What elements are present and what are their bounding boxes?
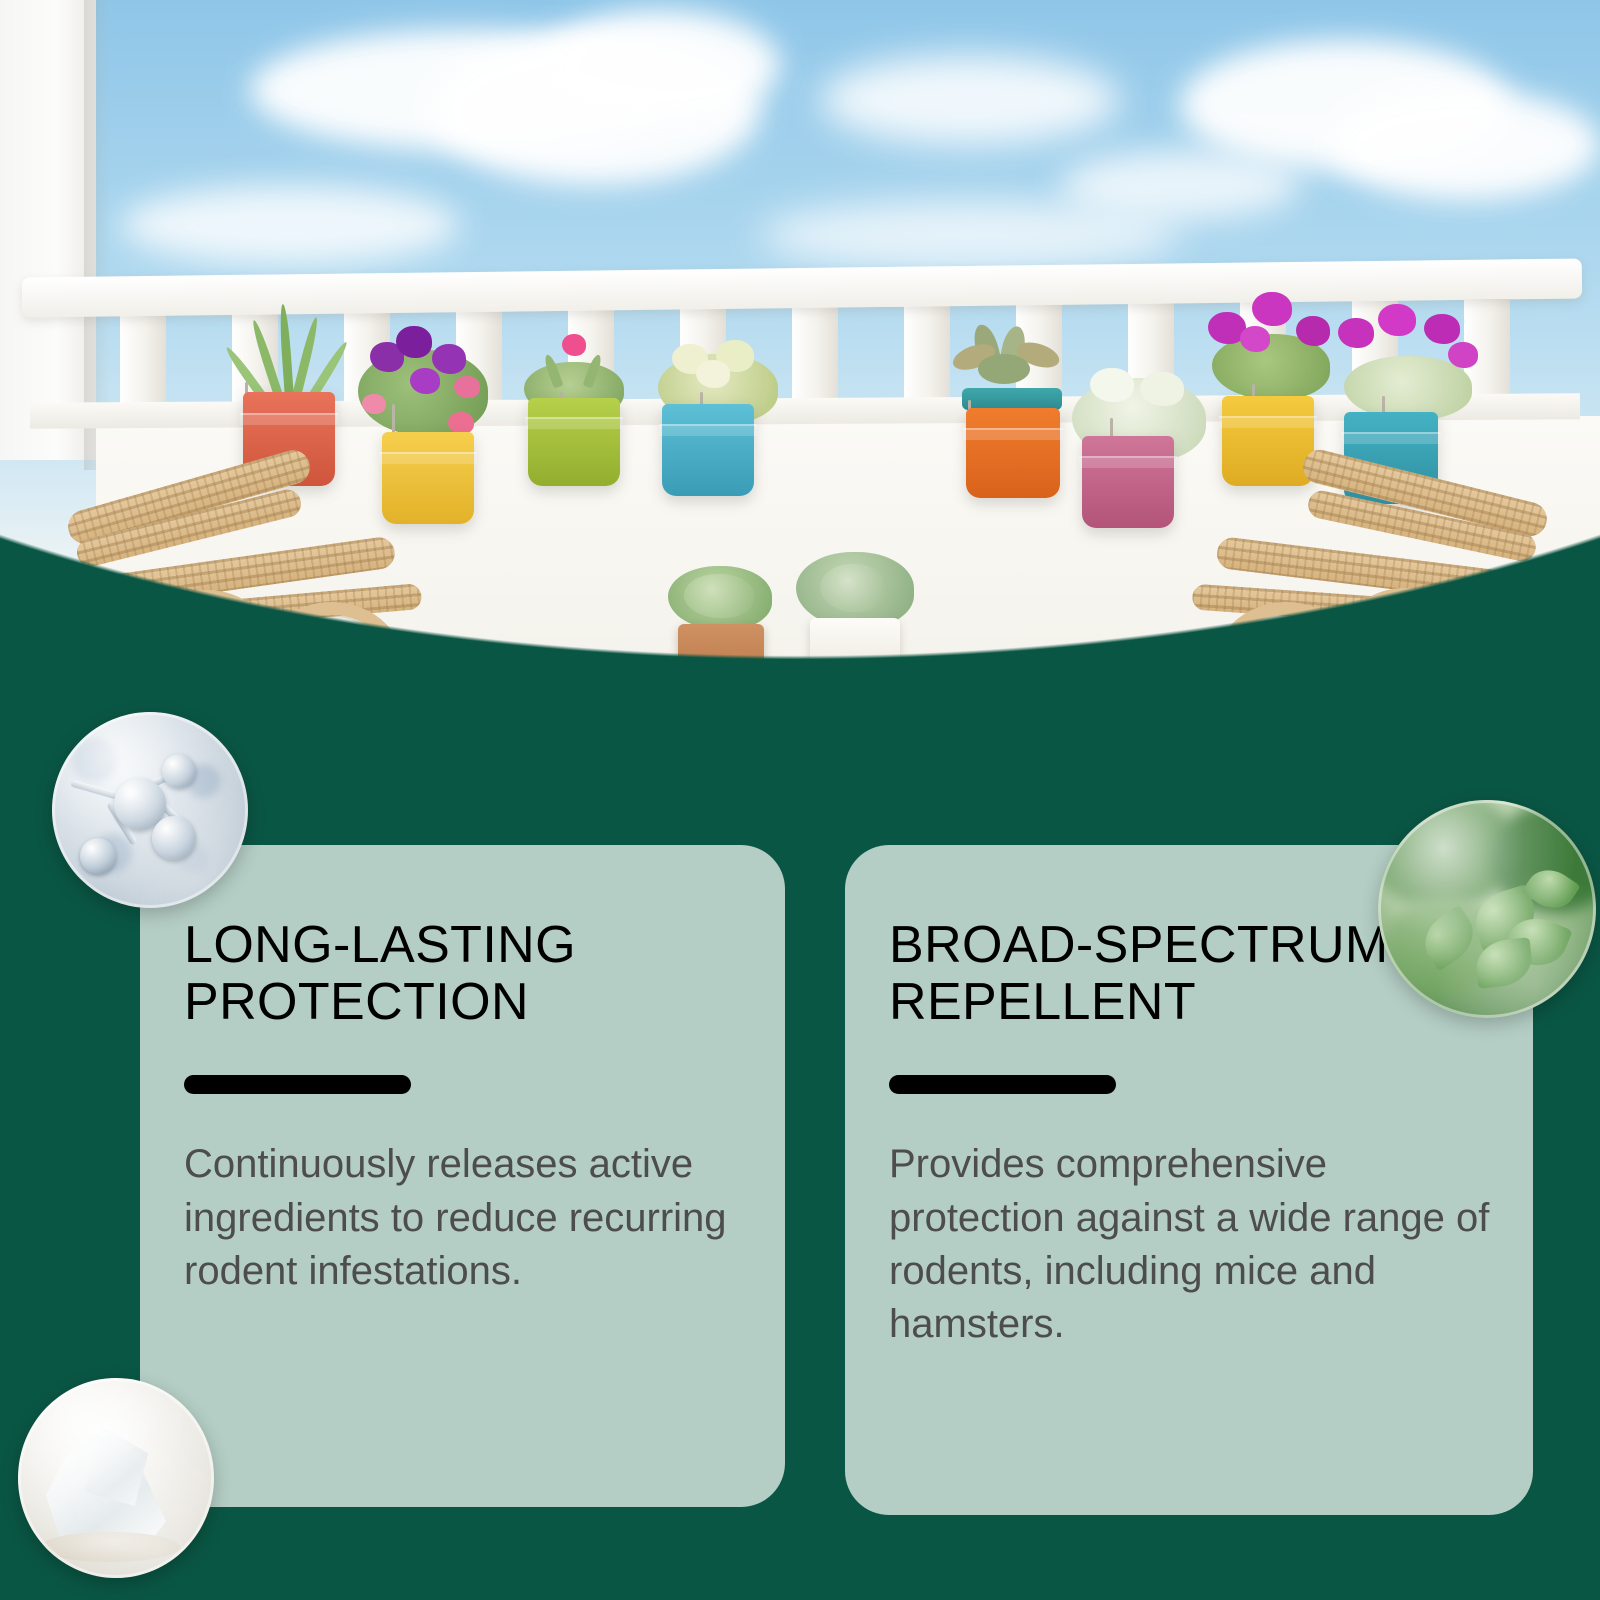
molecule-icon	[52, 712, 248, 908]
cloud-icon	[820, 55, 1120, 145]
cloud-icon	[120, 185, 460, 265]
succulent-terracotta-pot	[660, 566, 780, 696]
title-divider	[184, 1075, 411, 1094]
crystal-mineral-icon	[18, 1378, 214, 1578]
plant-mixed-magenta-cream	[1334, 296, 1480, 426]
plant-petunia-purple	[348, 320, 498, 450]
title-divider	[889, 1075, 1116, 1094]
cloud-icon	[1330, 90, 1600, 200]
plant-petunia-magenta	[1200, 288, 1340, 404]
planter-pot	[966, 408, 1060, 498]
pot-saucer	[962, 388, 1062, 410]
cloud-icon	[540, 10, 780, 120]
mint-leaves-icon	[1378, 800, 1596, 1018]
infographic-root: LONG-LASTING PROTECTION Continuously rel…	[0, 0, 1600, 1600]
succulent-white-pot	[790, 552, 920, 698]
card-body: Provides comprehensive protection agains…	[889, 1138, 1493, 1351]
feature-card-long-lasting-protection: LONG-LASTING PROTECTION Continuously rel…	[140, 845, 785, 1507]
planter-pot	[528, 398, 620, 486]
cloud-icon	[1060, 150, 1300, 220]
card-body: Continuously releases active ingredients…	[184, 1138, 745, 1298]
planter-pot	[662, 404, 754, 496]
card-title: LONG-LASTING PROTECTION	[184, 917, 745, 1031]
